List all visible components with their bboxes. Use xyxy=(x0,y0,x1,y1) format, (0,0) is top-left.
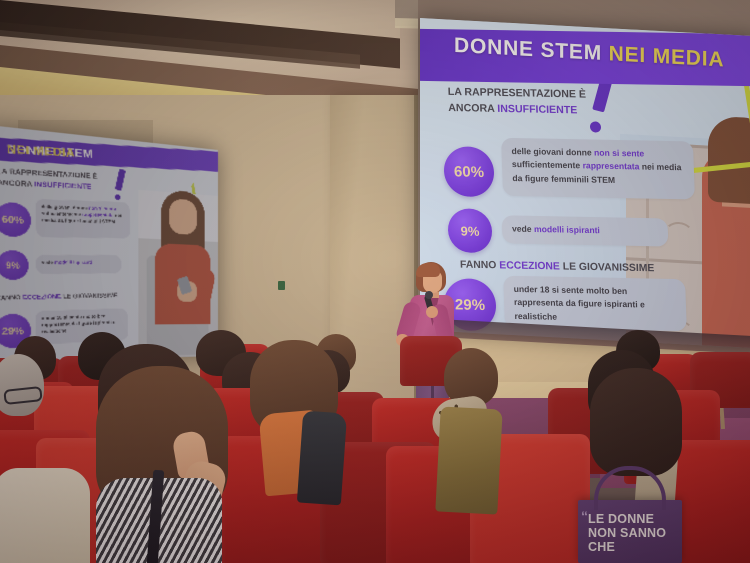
main-slide-section-part2: LE GIOVANISSIME xyxy=(560,261,655,274)
speaker-right-hand xyxy=(426,306,438,318)
left-slide-subtitle-accent: INSUFFICIENTE xyxy=(34,181,92,191)
left-slide-bubble9-a1: modelli ispiranti xyxy=(54,259,92,265)
speaker-hair-fringe xyxy=(416,263,440,277)
tote-bag-line1: LE DONNE xyxy=(588,512,666,526)
tote-bag-line2: NON SANNO xyxy=(588,526,666,540)
main-slide-stat-value-9: 9% xyxy=(460,223,479,238)
main-slide-title-gold: NEI MEDIA xyxy=(609,42,725,71)
main-slide-bubble9-p1: vede xyxy=(512,224,534,234)
left-slide-stat-bubble-9: vede modelli ispiranti xyxy=(35,255,121,274)
main-slide-bubble60-p1: delle giovani donne xyxy=(511,146,594,158)
main-projection-screen: DONNE STEM NEI MEDIA LA RAPPRESENTAZIONE… xyxy=(420,18,750,348)
tote-bag-text: LE DONNE NON SANNO CHE xyxy=(588,512,666,554)
main-slide-subtitle-accent: INSUFFICIENTE xyxy=(497,103,577,117)
left-slide-bubble60-p2: sufficientemente xyxy=(41,211,82,218)
left-slide-stat-circle-9: 9% xyxy=(0,250,29,280)
tote-bag-line3: CHE xyxy=(588,540,666,554)
cream-coat xyxy=(0,468,90,563)
left-slide-illustration-face xyxy=(169,198,197,235)
presentation-photo-scene: DONNE STEM NEI MEDIA LA RAPPRESENTAZIONE… xyxy=(0,0,750,563)
left-slide-stat-value-9: 9% xyxy=(6,260,20,271)
main-slide-stat-bubble-9: vede modelli ispiranti xyxy=(502,215,669,246)
left-slide-bubble60-a2: rappresentata xyxy=(82,212,113,218)
left-slide-section-part2: LE GIOVANISSIME xyxy=(61,293,118,301)
wall-socket xyxy=(278,281,285,290)
main-slide-bubble60-p2: sufficientemente xyxy=(512,159,583,170)
main-slide-bubble60-a1: non si sente xyxy=(594,148,644,159)
dark-scarf xyxy=(297,411,347,506)
left-slide-stat-circle-60: 60% xyxy=(0,201,31,237)
left-slide-section-accent: ECCEZIONE xyxy=(23,294,62,302)
tote-bag: “ LE DONNE NON SANNO CHE xyxy=(578,500,682,563)
left-slide-bubble9-p1: vede xyxy=(41,259,54,265)
left-slide-bubble60-p1: delle giovani donne xyxy=(41,204,89,211)
left-slide-exclamation-icon xyxy=(115,169,126,191)
main-slide-bubble9-a1: modelli ispiranti xyxy=(534,224,600,235)
gold-coat xyxy=(435,406,502,514)
left-projection-screen: DONNE STEM NEI MEDIA LA RAPPRESENTAZIONE… xyxy=(0,124,218,362)
foreground-audience-head xyxy=(590,368,682,476)
main-slide-exclamation-dot-icon xyxy=(590,121,601,133)
left-slide-bubble60-a1: non si sente xyxy=(89,205,117,211)
left-slide-exclamation-dot-icon xyxy=(115,194,120,200)
left-slide-subtitle-line2-plain: ANCORA xyxy=(0,179,34,189)
audience-area: “ LE DONNE NON SANNO CHE xyxy=(0,330,750,563)
left-slide-stat-value-60: 60% xyxy=(2,213,24,226)
tote-bag-quote-mark: “ xyxy=(581,508,588,524)
main-slide-bubble29-text: under 18 si sente molto ben rappresenta … xyxy=(513,284,645,321)
main-slide-bubble60-a2: rappresentata xyxy=(582,161,639,172)
main-slide-subtitle-line2-plain: ANCORA xyxy=(448,102,497,115)
left-slide-section-part1: FANNO xyxy=(0,295,23,302)
main-slide-subtitle: LA RAPPRESENTAZIONE È ANCORA INSUFFICIEN… xyxy=(447,84,586,120)
left-slide-title-gold: NEI MEDIA xyxy=(7,143,76,160)
left-slide-section-heading: FANNO ECCEZIONE LE GIOVANISSIME xyxy=(0,293,118,302)
main-slide-stat-bubble-29: under 18 si sente molto ben rappresenta … xyxy=(503,276,687,332)
microphone-head-icon xyxy=(425,291,433,299)
left-slide-subtitle: LA RAPPRESENTAZIONE È ANCORA INSUFFICIEN… xyxy=(0,167,98,194)
main-slide-stat-value-60: 60% xyxy=(454,163,485,181)
main-slide-section-accent: ECCEZIONE xyxy=(499,260,560,272)
main-slide-stat-bubble-60: delle giovani donne non si sente suffici… xyxy=(501,138,695,200)
left-slide-stat-bubble-60: delle giovani donne non si sente suffici… xyxy=(35,199,130,238)
